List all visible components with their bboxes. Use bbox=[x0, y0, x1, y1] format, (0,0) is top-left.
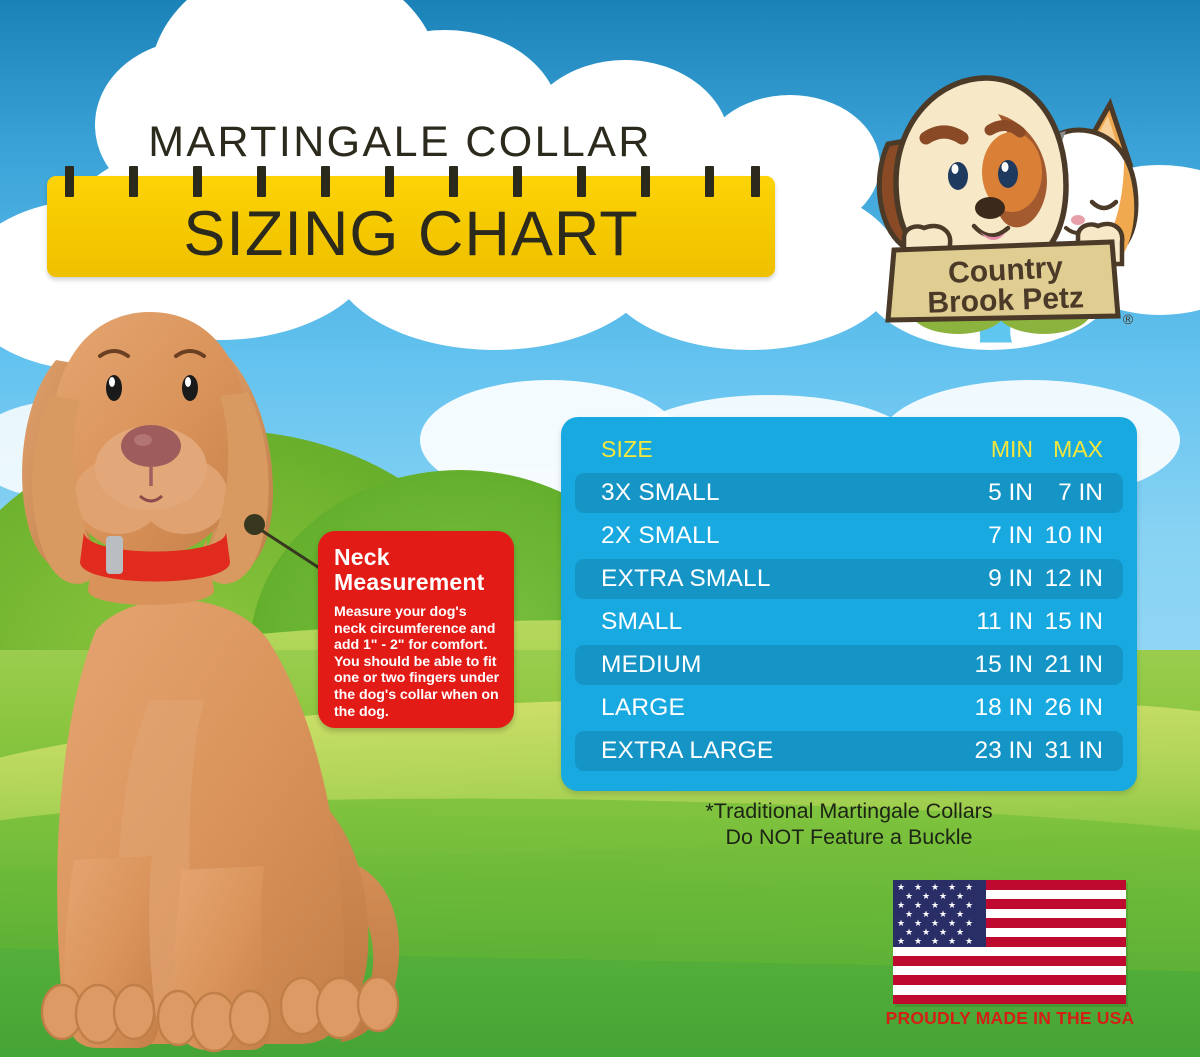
cell-max: 12 IN bbox=[945, 565, 1103, 593]
usa-flag: ★ ★ ★ ★ ★ ★ ★ ★ ★ ★ ★ ★ ★ ★ ★ ★ ★ ★ ★ ★ bbox=[893, 880, 1126, 1004]
cell-size: EXTRA LARGE bbox=[601, 737, 773, 765]
made-in-usa-text: PROUDLY MADE IN THE USA bbox=[845, 1008, 1175, 1029]
sizing-chart-banner: SIZING CHART bbox=[47, 176, 775, 277]
neck-measurement-callout: Neck Measurement Measure your dog's neck… bbox=[318, 531, 514, 728]
cell-max: 10 IN bbox=[945, 522, 1103, 550]
page-title-top: MARTINGALE COLLAR bbox=[0, 118, 800, 167]
table-header-row: SIZE MIN MAX bbox=[575, 429, 1123, 469]
table-row: EXTRA LARGE 23 IN 31 IN bbox=[575, 731, 1123, 771]
callout-heading-line2: Measurement bbox=[334, 569, 484, 595]
callout-heading: Neck Measurement bbox=[318, 531, 514, 595]
table-row: LARGE 18 IN 26 IN bbox=[575, 688, 1123, 728]
cell-size: LARGE bbox=[601, 694, 685, 722]
country-brook-petz-logo[interactable]: Country Brook Petz ® bbox=[862, 52, 1144, 347]
logo-line2: Brook Petz bbox=[927, 281, 1085, 319]
cell-max: 31 IN bbox=[945, 737, 1103, 765]
flag-canton: ★ ★ ★ ★ ★ ★ ★ ★ ★ ★ ★ ★ ★ ★ ★ ★ ★ ★ ★ ★ bbox=[893, 880, 986, 947]
cell-max: 7 IN bbox=[945, 479, 1103, 507]
cell-size: 3X SMALL bbox=[601, 479, 720, 507]
column-header-size: SIZE bbox=[601, 436, 653, 463]
footnote-line1: *Traditional Martingale Collars bbox=[561, 798, 1137, 824]
table-row: 2X SMALL 7 IN 10 IN bbox=[575, 516, 1123, 556]
cell-size: SMALL bbox=[601, 608, 682, 636]
cell-size: MEDIUM bbox=[601, 651, 702, 679]
page-title-banner: SIZING CHART bbox=[47, 198, 775, 270]
cell-max: 26 IN bbox=[945, 694, 1103, 722]
footnote-line2: Do NOT Feature a Buckle bbox=[561, 824, 1137, 850]
sizing-chart-infographic: MARTINGALE COLLAR SIZING CHART bbox=[0, 0, 1200, 1057]
cell-max: 21 IN bbox=[945, 651, 1103, 679]
cell-size: 2X SMALL bbox=[601, 522, 720, 550]
cell-max: 15 IN bbox=[945, 608, 1103, 636]
footnote: *Traditional Martingale Collars Do NOT F… bbox=[561, 798, 1137, 850]
cell-size: EXTRA SMALL bbox=[601, 565, 771, 593]
callout-pointer-dot bbox=[244, 514, 265, 535]
table-row: MEDIUM 15 IN 21 IN bbox=[575, 645, 1123, 685]
callout-body: Measure your dog's neck circumference an… bbox=[318, 595, 514, 720]
registered-mark: ® bbox=[1123, 311, 1134, 327]
sizing-table-panel: SIZE MIN MAX 3X SMALL 5 IN 7 IN 2X SMALL… bbox=[561, 417, 1137, 791]
callout-heading-line1: Neck bbox=[334, 544, 390, 570]
table-row: 3X SMALL 5 IN 7 IN bbox=[575, 473, 1123, 513]
column-header-max: MAX bbox=[945, 436, 1103, 463]
table-row: EXTRA SMALL 9 IN 12 IN bbox=[575, 559, 1123, 599]
table-row: SMALL 11 IN 15 IN bbox=[575, 602, 1123, 642]
